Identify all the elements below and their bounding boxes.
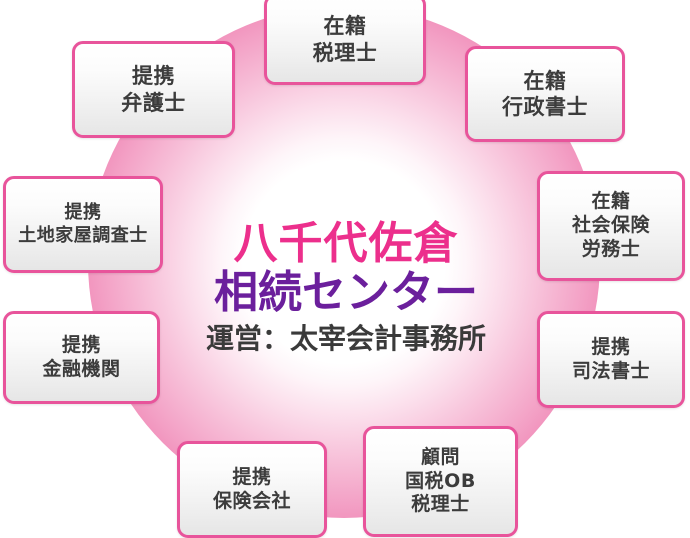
- node-label-line: 在籍: [591, 190, 630, 214]
- node-label-line: 税理士: [313, 40, 378, 66]
- node-label-line: 金融機関: [42, 358, 120, 382]
- node-teikei-kinyu[interactable]: 提携 金融機関: [3, 311, 160, 404]
- node-label-line: 提携: [65, 202, 102, 225]
- node-label-line: 社会保険: [572, 214, 650, 238]
- node-zaiseki-zeirishi[interactable]: 在籍 税理士: [264, 0, 426, 85]
- node-label-line: 司法書士: [572, 360, 650, 384]
- node-label-line: 国税OB: [405, 470, 476, 494]
- node-teikei-shiho[interactable]: 提携 司法書士: [537, 311, 685, 408]
- node-label-line: 提携: [232, 466, 271, 490]
- node-label-line: 提携: [591, 336, 630, 360]
- node-label-line: 保険会社: [213, 490, 291, 514]
- node-label-line: 在籍: [524, 68, 567, 94]
- node-teikei-hoken[interactable]: 提携 保険会社: [177, 441, 327, 538]
- node-label-line: 提携: [62, 334, 101, 358]
- node-label-line: 顧問: [421, 446, 460, 470]
- node-teikei-bengoshi[interactable]: 提携 弁護士: [72, 41, 235, 138]
- node-label-line: 労務士: [582, 238, 641, 262]
- node-zaiseki-shaho[interactable]: 在籍 社会保険 労務士: [537, 171, 685, 281]
- node-label-line: 在籍: [324, 13, 367, 39]
- node-komon-kokuzei[interactable]: 顧問 国税OB 税理士: [363, 426, 518, 537]
- node-teikei-tochikaoku[interactable]: 提携 土地家屋調査士: [3, 176, 163, 273]
- organization-network-diagram: 在籍 税理士 提携 弁護士 在籍 行政書士 提携 土地家屋調査士 在籍 社会保険…: [0, 0, 690, 536]
- node-label-line: 弁護士: [121, 90, 186, 116]
- node-label-line: 税理士: [411, 493, 470, 517]
- node-label-line: 土地家屋調査士: [18, 225, 148, 248]
- node-label-line: 提携: [132, 63, 175, 89]
- node-zaiseki-gyosei[interactable]: 在籍 行政書士: [465, 46, 625, 142]
- node-label-line: 行政書士: [502, 94, 588, 120]
